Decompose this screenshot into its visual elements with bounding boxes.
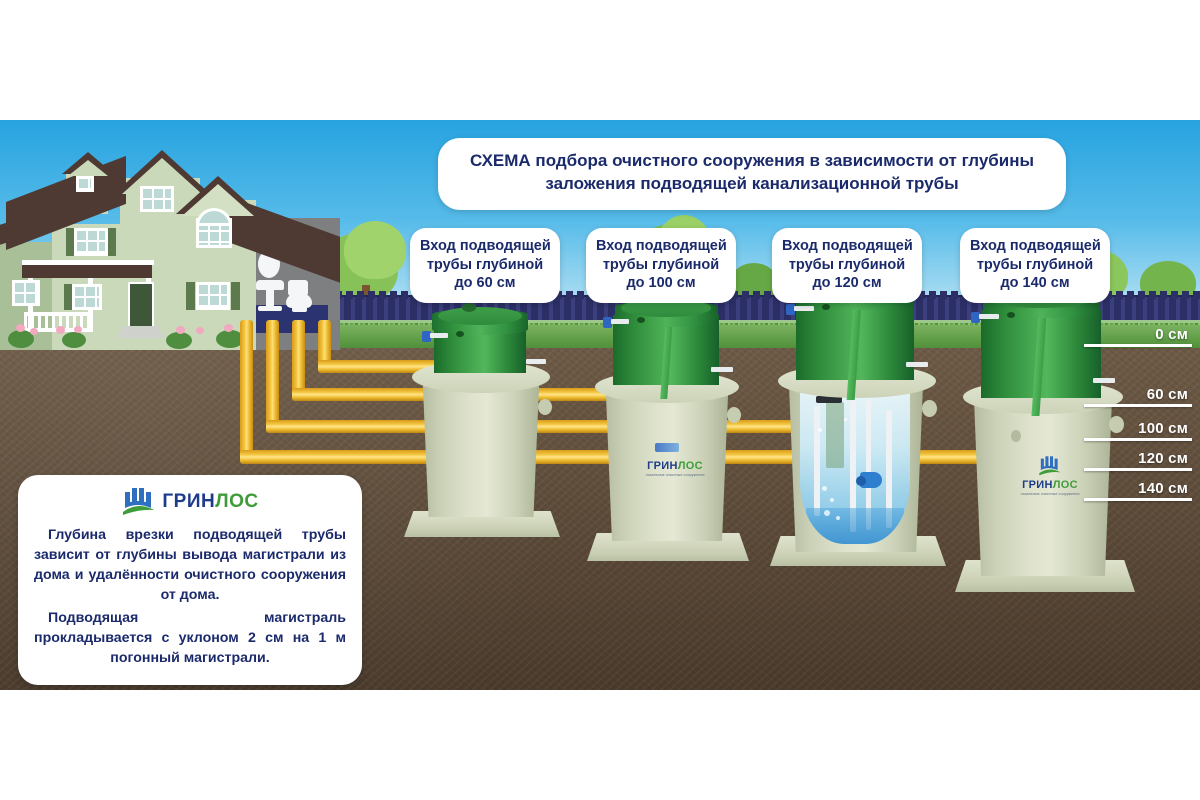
callout-depth-140: Вход подводящей трубы глубиной до 140 см — [960, 228, 1110, 303]
callout-4-line-3: до 140 см — [970, 274, 1100, 293]
tank-body-logo-2: ГРИНЛОС локальные очистные сооружения — [585, 461, 765, 477]
title-line-2: заложения подводящей канализационной тру… — [460, 173, 1044, 196]
depth-label-140: 140 см — [1084, 480, 1192, 497]
depth-label-100: 100 см — [1084, 420, 1192, 437]
septic-tank-1 — [400, 315, 580, 575]
depth-rule-60 — [1084, 404, 1192, 407]
callout-4-line-2: трубы глубиной — [970, 256, 1100, 275]
info-panel: ГРИНЛОС Глубина врезки подводящей трубы … — [18, 475, 362, 685]
tank4-logo-grin: ГРИН — [1022, 479, 1053, 491]
callout-depth-100: Вход подводящей трубы глубиной до 100 см — [586, 228, 736, 303]
callout-1-line-1: Вход подводящей — [420, 237, 550, 256]
title-line-1: СХЕМА подбора очистного сооружения в зав… — [460, 150, 1044, 173]
tank-logo-grin: ГРИН — [647, 460, 678, 472]
callout-depth-60: Вход подводящей трубы глубиной до 60 см — [410, 228, 560, 303]
depth-label-60: 60 см — [1084, 386, 1192, 403]
callout-depth-120: Вход подводящей трубы глубиной до 120 см — [772, 228, 922, 303]
greenlos-logo: ГРИНЛОС — [34, 488, 346, 516]
info-text-block: Глубина врезки подводящей трубы зависит … — [34, 525, 346, 668]
depth-marker-100: 100 см — [1084, 420, 1192, 441]
greenlos-mark-icon — [1037, 456, 1063, 478]
depth-rule-100 — [1084, 438, 1192, 441]
info-paragraph-2: Подводящая магистраль прокладывается с у… — [34, 608, 346, 668]
logo-grin-text: ГРИН — [162, 491, 215, 512]
callout-3-line-3: до 120 см — [782, 274, 912, 293]
tank-cutaway-window — [800, 388, 910, 544]
depth-marker-140: 140 см — [1084, 480, 1192, 501]
depth-rule-0 — [1084, 344, 1192, 347]
depth-rule-140 — [1084, 498, 1192, 501]
tank-logo-los: ЛОС — [678, 460, 703, 472]
diagram-title: СХЕМА подбора очистного сооружения в зав… — [438, 138, 1066, 210]
greenlos-logo-mark-icon — [121, 488, 155, 516]
logo-los-text: ЛОС — [215, 491, 258, 512]
depth-marker-120: 120 см — [1084, 450, 1192, 471]
callout-2-line-3: до 100 см — [596, 274, 726, 293]
depth-marker-60: 60 см — [1084, 386, 1192, 407]
house-illustration — [0, 140, 340, 355]
scene-canvas: ГРИНЛОС локальные очистные сооружения — [0, 120, 1200, 690]
depth-marker-0: 0 см — [1084, 326, 1192, 347]
callout-3-line-1: Вход подводящей — [782, 237, 912, 256]
depth-label-120: 120 см — [1084, 450, 1192, 467]
depth-label-0: 0 см — [1084, 326, 1192, 343]
callout-2-line-2: трубы глубиной — [596, 256, 726, 275]
septic-tank-3-cutaway — [770, 300, 960, 590]
callout-1-line-3: до 60 см — [420, 274, 550, 293]
callout-4-line-1: Вход подводящей — [970, 237, 1100, 256]
septic-tank-2: ГРИНЛОС локальные очистные сооружения — [585, 315, 765, 585]
info-paragraph-1: Глубина врезки подводящей трубы зависит … — [34, 525, 346, 606]
depth-rule-120 — [1084, 468, 1192, 471]
callout-3-line-2: трубы глубиной — [782, 256, 912, 275]
callout-1-line-2: трубы глубиной — [420, 256, 550, 275]
greenlos-logo-text: ГРИНЛОС — [162, 491, 258, 513]
supply-pipe-vertical-3 — [266, 320, 279, 432]
callout-2-line-1: Вход подводящей — [596, 237, 726, 256]
tank4-logo-los: ЛОС — [1053, 479, 1078, 491]
tank-logo-tagline: локальные очистные сооружения — [585, 473, 765, 477]
supply-pipe-vertical-4 — [240, 320, 253, 462]
infographic-root: ГРИНЛОС локальные очистные сооружения — [0, 0, 1200, 800]
